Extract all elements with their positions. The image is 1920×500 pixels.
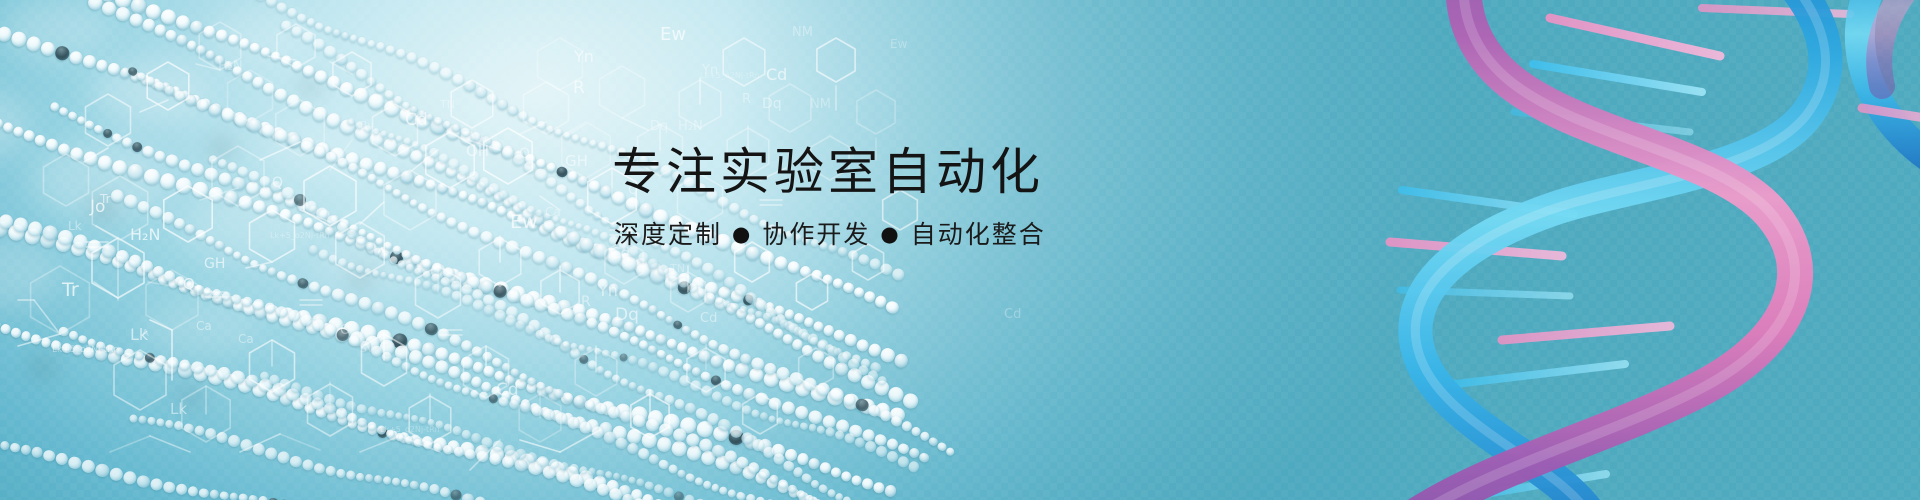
subtitle-bullet-1: ● [732, 222, 752, 247]
banner-subtitle: 深度定制●协作开发●自动化整合 [614, 220, 1312, 250]
subtitle-item-1: 深度定制 [614, 220, 722, 250]
banner-copy: 专注实验室自动化 深度定制●协作开发●自动化整合 [612, 144, 1312, 250]
subtitle-item-2: 协作开发 [762, 220, 870, 250]
subtitle-item-3: 自动化整合 [911, 220, 1046, 250]
subtitle-bullet-2: ● [880, 222, 900, 247]
hero-banner: CdCdCdCdCdCdYnYnYnEwEwEwRRRDqDqDqH₂NH₂NH… [0, 0, 1920, 500]
banner-title: 专注实验室自动化 [612, 144, 1312, 200]
background-highlight [0, 0, 1920, 500]
